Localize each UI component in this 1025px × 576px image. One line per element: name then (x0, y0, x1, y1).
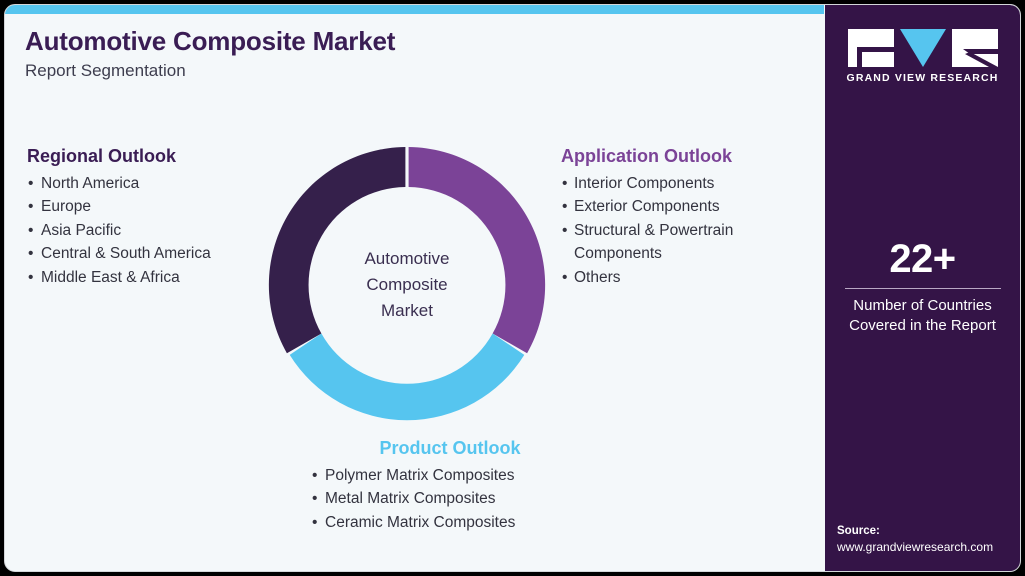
product-outlook-list: •Polymer Matrix Composites •Metal Matrix… (305, 464, 595, 535)
list-item: •Structural & Powertrain Components (561, 219, 811, 266)
application-outlook-list: •Interior Components •Exterior Component… (561, 172, 811, 290)
stat-caption-line-2: Covered in the Report (825, 316, 1020, 336)
logo-block: GRAND VIEW RESEARCH (825, 29, 1020, 84)
main-card: Automotive Composite Market Report Segme… (4, 4, 1021, 572)
list-item-label: Metal Matrix Composites (325, 490, 496, 507)
infographic-root: Automotive Composite Market Report Segme… (0, 0, 1025, 576)
bullet-icon: • (28, 266, 33, 290)
bullet-icon: • (562, 172, 567, 196)
list-item: •Others (561, 266, 811, 290)
source-block: Source: www.grandviewresearch.com (837, 523, 1017, 555)
stat-caption-line-1: Number of Countries (825, 296, 1020, 316)
bullet-icon: • (312, 464, 317, 488)
source-url: www.grandviewresearch.com (837, 539, 1017, 555)
list-item-label: Exterior Components (574, 198, 720, 215)
regional-outlook-heading: Regional Outlook (27, 146, 277, 168)
list-item-label: Middle East & Africa (41, 269, 180, 286)
grand-view-research-logo-icon (848, 29, 998, 67)
page-title: Automotive Composite Market (25, 27, 785, 57)
bullet-icon: • (562, 195, 567, 219)
list-item-label: North America (41, 175, 139, 192)
list-item: •Exterior Components (561, 195, 811, 219)
list-item-label: Europe (41, 198, 91, 215)
donut-segment-product (290, 334, 525, 421)
page-subtitle: Report Segmentation (25, 61, 785, 81)
regional-outlook-block: Regional Outlook •North America •Europe … (27, 146, 277, 289)
list-item-label: Structural & Powertrain Components (574, 222, 733, 263)
bullet-icon: • (28, 242, 33, 266)
stat-divider (845, 288, 1001, 289)
stat-block: 22+ Number of Countries Covered in the R… (825, 237, 1020, 336)
list-item: •Ceramic Matrix Composites (311, 511, 595, 535)
list-item: •Middle East & Africa (27, 266, 277, 290)
list-item: •Europe (27, 195, 277, 219)
list-item-label: Asia Pacific (41, 222, 121, 239)
product-outlook-block: Product Outlook •Polymer Matrix Composit… (305, 438, 595, 534)
bullet-icon: • (312, 487, 317, 511)
bullet-icon: • (562, 219, 567, 243)
top-accent-bar (5, 5, 824, 14)
donut-chart-svg (267, 145, 547, 425)
logo-wordmark: GRAND VIEW RESEARCH (825, 72, 1020, 84)
donut-chart: Automotive Composite Market (267, 145, 547, 425)
bullet-icon: • (28, 172, 33, 196)
application-outlook-heading: Application Outlook (561, 146, 811, 168)
sidebar-panel: GRAND VIEW RESEARCH 22+ Number of Countr… (825, 5, 1020, 572)
list-item: •Polymer Matrix Composites (311, 464, 595, 488)
donut-segment-regional (269, 147, 406, 353)
stat-number: 22+ (825, 237, 1020, 281)
source-label: Source: (837, 523, 1017, 539)
header: Automotive Composite Market Report Segme… (25, 27, 785, 80)
bullet-icon: • (562, 266, 567, 290)
list-item-label: Polymer Matrix Composites (325, 467, 515, 484)
list-item-label: Central & South America (41, 245, 211, 262)
donut-segment-application (409, 147, 546, 353)
list-item: •Interior Components (561, 172, 811, 196)
list-item-label: Ceramic Matrix Composites (325, 514, 515, 531)
bullet-icon: • (312, 511, 317, 535)
list-item: •Asia Pacific (27, 219, 277, 243)
list-item: •North America (27, 172, 277, 196)
application-outlook-block: Application Outlook •Interior Components… (561, 146, 811, 289)
product-outlook-heading: Product Outlook (305, 438, 595, 460)
list-item: •Central & South America (27, 242, 277, 266)
list-item: •Metal Matrix Composites (311, 487, 595, 511)
list-item-label: Interior Components (574, 175, 714, 192)
bullet-icon: • (28, 219, 33, 243)
bullet-icon: • (28, 195, 33, 219)
list-item-label: Others (574, 269, 621, 286)
regional-outlook-list: •North America •Europe •Asia Pacific •Ce… (27, 172, 277, 290)
